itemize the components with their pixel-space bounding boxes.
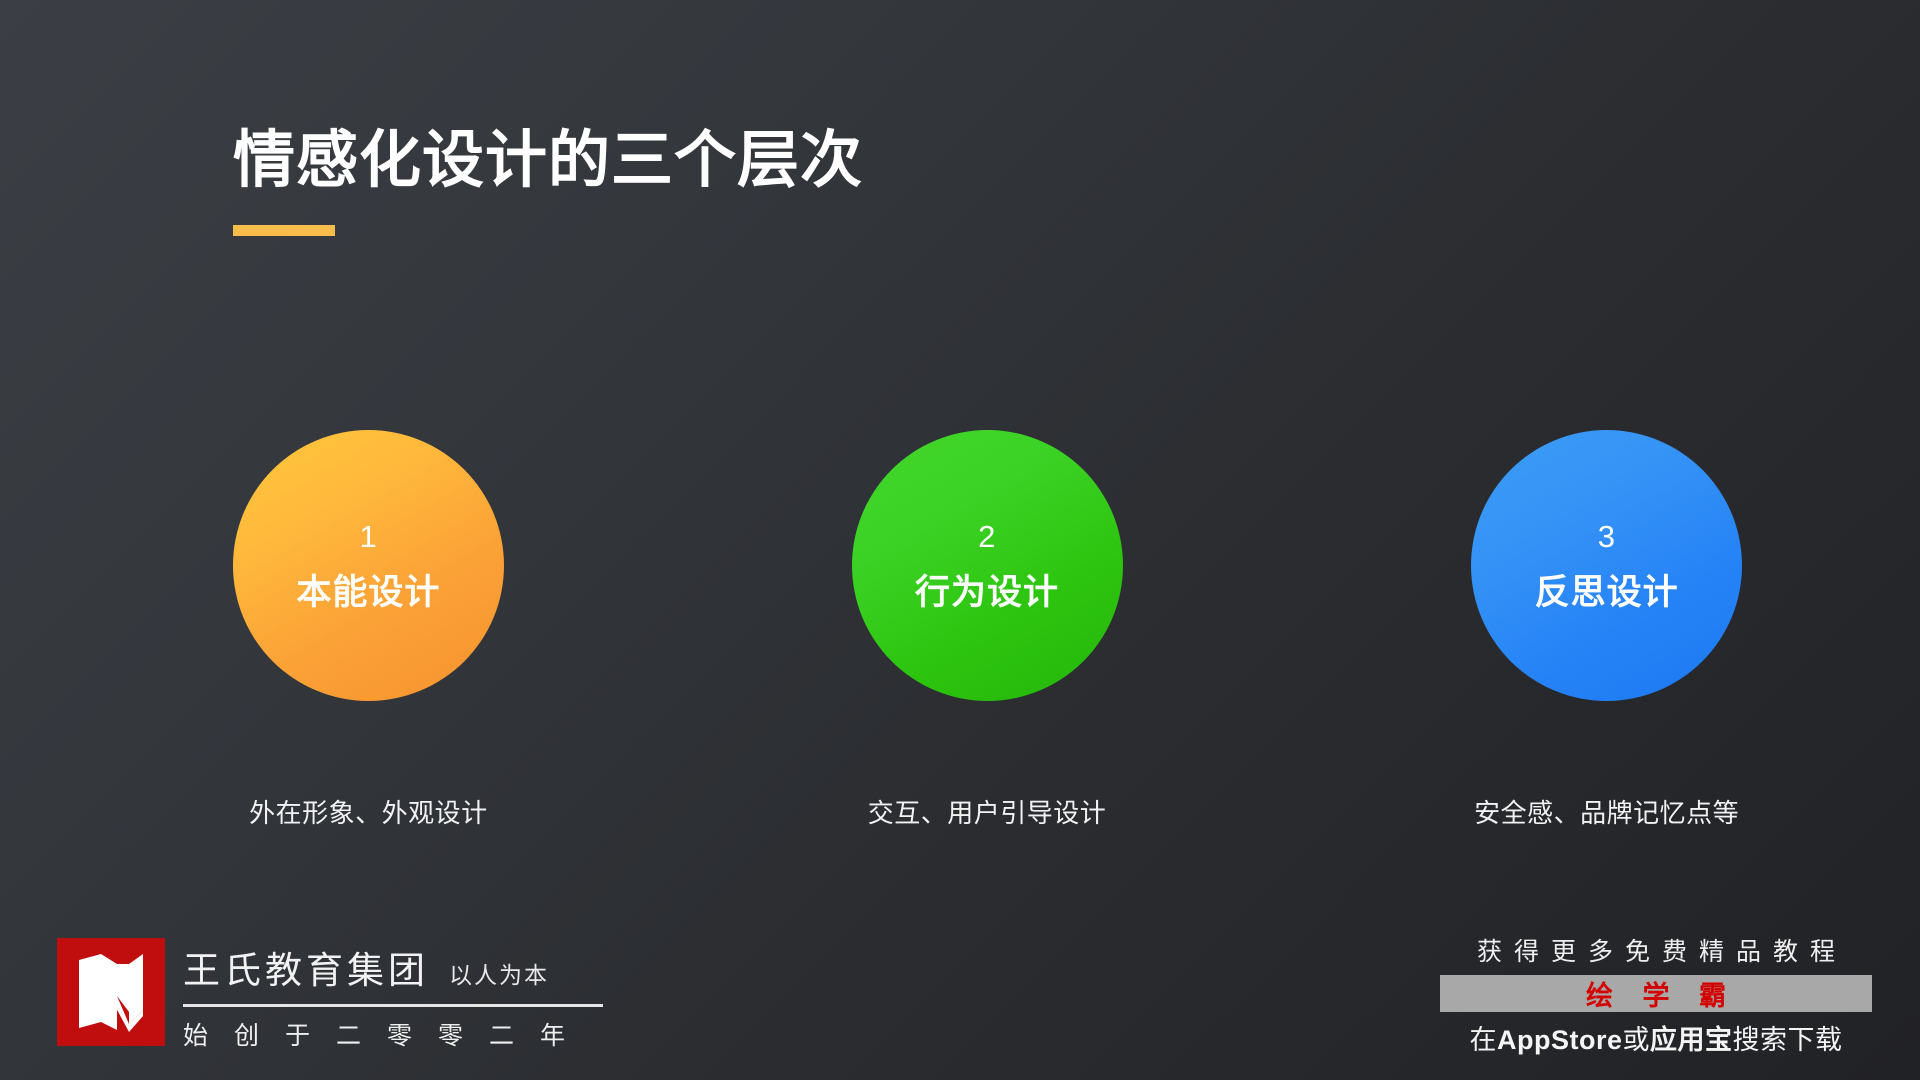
brand-title-row: 王氏教育集团 以人为本 bbox=[183, 940, 603, 994]
promo-download-line: 在AppStore或应用宝搜索下载 bbox=[1440, 1018, 1872, 1057]
level-circle-3[interactable]: 3 反思设计 bbox=[1471, 430, 1742, 701]
app-promo-block: 获得更多免费精品教程 绘 学 霸 在AppStore或应用宝搜索下载 bbox=[1440, 932, 1872, 1057]
level-card: 1 本能设计 外在形象、外观设计 bbox=[55, 430, 682, 830]
level-label: 本能设计 bbox=[296, 575, 440, 610]
promo-app-bar: 绘 学 霸 bbox=[1440, 975, 1872, 1012]
promo-suffix: 搜索下载 bbox=[1733, 1025, 1843, 1055]
level-number: 1 bbox=[359, 521, 377, 552]
brand-divider bbox=[183, 1004, 603, 1007]
brand-text-block: 王氏教育集团 以人为本 始创于二零零二年 bbox=[183, 938, 603, 1052]
level-caption: 外在形象、外观设计 bbox=[249, 793, 488, 830]
page-title: 情感化设计的三个层次 bbox=[233, 128, 863, 195]
level-caption: 交互、用户引导设计 bbox=[868, 793, 1107, 830]
promo-yingyongbao: 应用宝 bbox=[1650, 1025, 1733, 1055]
brand-slogan: 以人为本 bbox=[449, 956, 549, 990]
level-caption: 安全感、品牌记忆点等 bbox=[1474, 793, 1739, 830]
level-label: 反思设计 bbox=[1535, 575, 1679, 610]
brand-founded-year: 始创于二零零二年 bbox=[183, 1016, 603, 1052]
wangshi-logo-icon bbox=[57, 938, 165, 1046]
title-accent-rule bbox=[233, 225, 335, 236]
level-card: 3 反思设计 安全感、品牌记忆点等 bbox=[1293, 430, 1920, 830]
promo-app-name: 绘 学 霸 bbox=[1575, 974, 1737, 1013]
promo-appstore: AppStore bbox=[1497, 1025, 1623, 1055]
promo-prefix: 在 bbox=[1470, 1025, 1498, 1055]
level-card: 2 行为设计 交互、用户引导设计 bbox=[674, 430, 1301, 830]
title-block: 情感化设计的三个层次 bbox=[233, 128, 863, 236]
promo-headline: 获得更多免费精品教程 bbox=[1440, 932, 1872, 968]
level-circle-2[interactable]: 2 行为设计 bbox=[852, 430, 1123, 701]
promo-middle: 或 bbox=[1623, 1025, 1651, 1055]
level-circle-1[interactable]: 1 本能设计 bbox=[233, 430, 504, 701]
brand-name: 王氏教育集团 bbox=[183, 940, 429, 994]
level-number: 2 bbox=[978, 521, 996, 552]
levels-row: 1 本能设计 外在形象、外观设计 2 行为设计 交互、用户引导设计 3 反思设计… bbox=[0, 430, 1920, 830]
slide-canvas: 情感化设计的三个层次 1 本能设计 外在形象、外观设计 2 行为设计 交互、用户… bbox=[0, 0, 1920, 1080]
brand-lockup: 王氏教育集团 以人为本 始创于二零零二年 bbox=[57, 938, 603, 1052]
level-number: 3 bbox=[1598, 521, 1616, 552]
level-label: 行为设计 bbox=[915, 575, 1059, 610]
